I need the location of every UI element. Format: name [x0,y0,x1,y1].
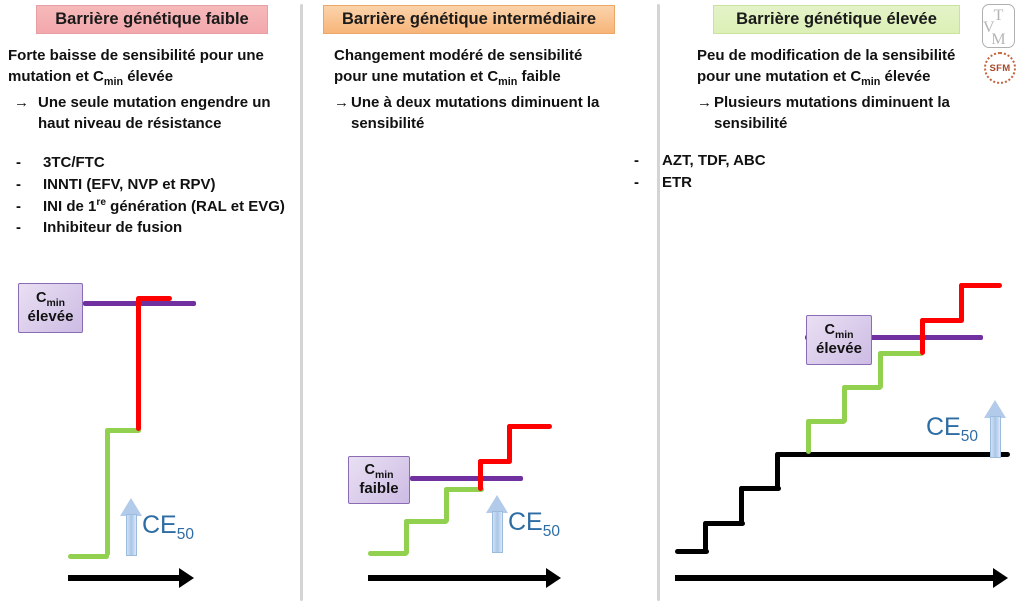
ce50-label: CE50 [508,508,560,541]
red-plateau-segment [136,296,172,301]
panel-low-bullets: - 3TC/FTC - INNTI (EFV, NVP et RPV) - IN… [8,152,300,239]
bullet-dash: - [8,217,43,239]
cmin-line-1: Cmin [824,322,853,342]
intro-line-1: Forte baisse de sensibilité pour une [8,45,300,66]
intro-line-2-sub: min [861,76,880,88]
cmin-label-box: Cmin élevée [18,283,83,333]
up-arrow-icon [984,400,1006,458]
green-step-3 [878,351,924,356]
list-item: - Inhibiteur de fusion [8,217,300,239]
cmin-line-2: faible [359,481,398,498]
right-arrow-icon: → [8,92,38,135]
x-axis-arrow [675,575,995,581]
right-arrow-icon: → [697,92,714,135]
ce50-label: CE50 [926,413,978,446]
intro-line-2: pour une mutation et Cmin élevée [697,66,1013,90]
green-step-1 [368,551,408,556]
green-step-2 [842,385,882,390]
intro-arrow-row: → Une seule mutation engendre un haut ni… [8,92,300,135]
panel-intermediate-header: Barrière génétique intermédiaire [323,5,615,34]
red-step-1 [920,318,964,323]
panel-low-barrier: Barrière génétique faible Forte baisse d… [0,0,300,605]
panel-high-intro: Peu de modification de la sensibilité po… [697,45,1013,134]
intro-line-2: mutation et Cmin élevée [8,66,300,90]
panel-intermediate-intro: Changement modéré de sensibilité pour un… [334,45,644,134]
x-axis-arrow [368,575,548,581]
bullet-dash: - [8,152,43,174]
up-arrow-icon [486,495,508,553]
ce50-indicator: CE50 [926,400,1006,458]
intro-line-1: Changement modéré de sensibilité [334,45,644,66]
panel-high-header: Barrière génétique élevée [713,5,960,34]
intro-line-2-b: élevée [880,68,930,85]
cmin-line-2: élevée [816,341,862,358]
cmin-label-box: Cmin élevée [806,315,872,365]
ce50-label: CE50 [142,511,194,544]
intro-arrow-row: → Plusieurs mutations diminuent la sensi… [697,92,1013,135]
red-riser-1 [920,318,925,355]
panel-intermediate-barrier: Barrière génétique intermédiaire Changem… [304,0,656,605]
green-step-2 [404,519,448,524]
intro-line-2-a: pour une mutation et C [334,68,498,85]
list-item: - INI de 1re génération (RAL et EVG) [8,196,300,218]
cmin-label-box: Cmin faible [348,456,410,504]
black-riser-2 [739,486,744,526]
bullet-dash: - [8,196,43,218]
green-riser-1 [404,519,409,555]
intro-arrow-text: Une seule mutation engendre un haut nive… [38,92,300,135]
green-riser-segment [105,428,110,556]
red-step-2 [959,283,1002,288]
intro-line-2-sub: min [498,76,517,88]
red-riser-2 [507,424,512,462]
red-step-2 [507,424,552,429]
intro-arrow-text: Plusieurs mutations diminuent la sensibi… [714,92,1013,135]
panel-divider-1 [300,4,303,601]
list-item: - 3TC/FTC [8,152,300,174]
cmin-line-1: Cmin [364,462,393,482]
x-axis-arrow [68,575,181,581]
ce50-indicator: CE50 [486,495,560,553]
right-arrow-icon: → [334,92,351,135]
list-item: - INNTI (EFV, NVP et RPV) [8,174,300,196]
bullet-text: Inhibiteur de fusion [43,217,300,239]
red-riser-2 [959,283,964,322]
cmin-line-2: élevée [28,309,74,326]
intro-line-2-a: pour une mutation et C [697,68,861,85]
green-riser-3 [878,351,883,389]
cmin-threshold-line [410,476,523,481]
panel-low-intro: Forte baisse de sensibilité pour une mut… [8,45,300,134]
bullet-dash: - [634,150,662,172]
bullet-text: INNTI (EFV, NVP et RPV) [43,174,300,196]
intro-arrow-row: → Une à deux mutations diminuent la sens… [334,92,644,135]
green-riser-2 [444,487,449,523]
green-step-1 [806,419,846,424]
up-arrow-icon [120,498,142,556]
panel-low-header: Barrière génétique faible [36,5,268,34]
black-riser-3 [775,452,780,491]
intro-line-2: pour une mutation et Cmin faible [334,66,644,90]
cmin-line-1: Cmin [36,290,65,310]
panel-divider-2 [657,4,660,601]
bullet-dash: - [8,174,43,196]
green-riser-2 [842,385,847,423]
intro-arrow-text: Une à deux mutations diminuent la sensib… [351,92,644,135]
slide-root: T V M SFM Barrière génétique faible Fort… [0,0,1024,605]
red-riser-segment [136,297,141,431]
green-riser-1 [806,419,811,454]
intro-line-1: Peu de modification de la sensibilité [697,45,1013,66]
panel-high-barrier: Barrière génétique élevée Peu de modific… [661,0,1024,605]
intro-line-2-sub: min [104,76,123,88]
intro-line-2-b: faible [517,68,560,85]
intro-line-2-b: élevée [123,68,173,85]
bullet-dash: - [634,172,662,194]
green-baseline-segment [68,554,109,559]
intro-line-2-a: mutation et C [8,68,104,85]
bullet-text: INI de 1re génération (RAL et EVG) [43,196,300,218]
ce50-indicator: CE50 [120,498,194,556]
bullet-text: 3TC/FTC [43,152,300,174]
